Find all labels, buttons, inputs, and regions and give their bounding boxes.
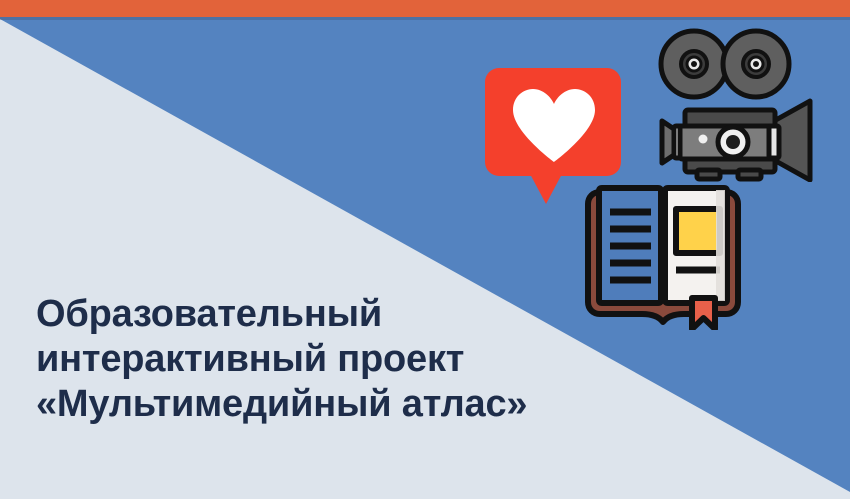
title-line-3: «Мультимедийный атлас» — [36, 382, 527, 427]
video-camera-icon — [650, 22, 840, 182]
poster-canvas: Образовательный интерактивный проект «Му… — [0, 0, 850, 499]
page-title: Образовательный интерактивный проект «Му… — [36, 292, 527, 427]
bubble-tail — [529, 172, 563, 204]
book-ribbon — [692, 298, 715, 329]
open-book-icon — [572, 178, 754, 330]
heart-icon — [511, 88, 597, 164]
top-bar-shadow — [0, 17, 850, 20]
orange-top-bar — [0, 0, 850, 17]
title-line-1: Образовательный — [36, 292, 527, 337]
title-line-2: интерактивный проект — [36, 337, 527, 382]
book-illustration — [676, 209, 720, 253]
